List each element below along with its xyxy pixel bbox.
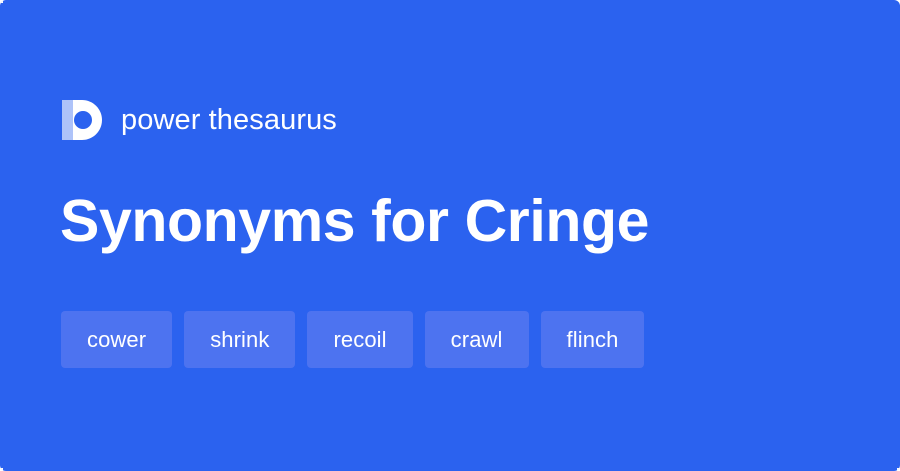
synonym-chip-flinch[interactable]: flinch bbox=[541, 311, 645, 368]
page-title: Synonyms for Cringe bbox=[60, 186, 649, 256]
synonym-chip-crawl[interactable]: crawl bbox=[425, 311, 529, 368]
synonym-chip-list: cower shrink recoil crawl flinch bbox=[61, 311, 644, 368]
synonym-chip-cower[interactable]: cower bbox=[61, 311, 172, 368]
synonym-chip-shrink[interactable]: shrink bbox=[184, 311, 295, 368]
synonyms-card: power thesaurus Synonyms for Cringe cowe… bbox=[0, 0, 900, 471]
synonym-chip-recoil[interactable]: recoil bbox=[307, 311, 412, 368]
brand-name: power thesaurus bbox=[121, 106, 337, 135]
power-thesaurus-b-logo-icon bbox=[60, 98, 104, 142]
brand-header[interactable]: power thesaurus bbox=[60, 97, 337, 143]
corner-artifact-top-left bbox=[0, 0, 3, 3]
